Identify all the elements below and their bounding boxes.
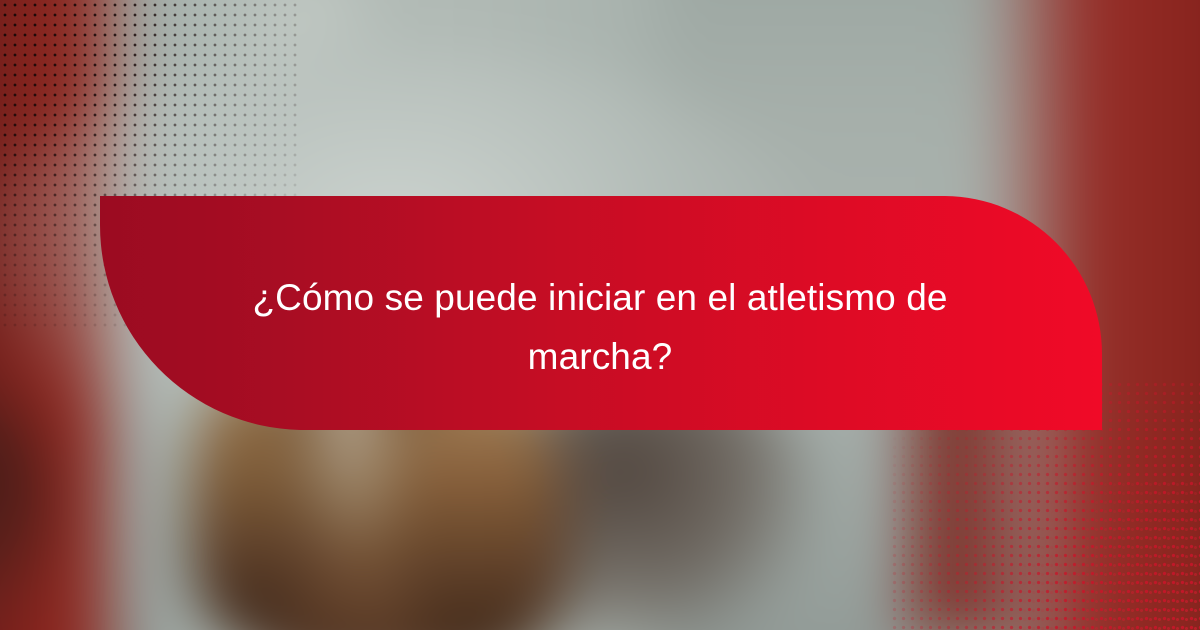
background-figure-highlight — [312, 368, 388, 559]
background-right-column — [892, 363, 1035, 630]
page-title: ¿Cómo se puede iniciar en el atletismo d… — [150, 268, 1050, 386]
background-figure-hair-right — [399, 375, 558, 630]
background-figure-hair-left — [189, 373, 306, 630]
hero-card: ¿Cómo se puede iniciar en el atletismo d… — [0, 0, 1200, 630]
